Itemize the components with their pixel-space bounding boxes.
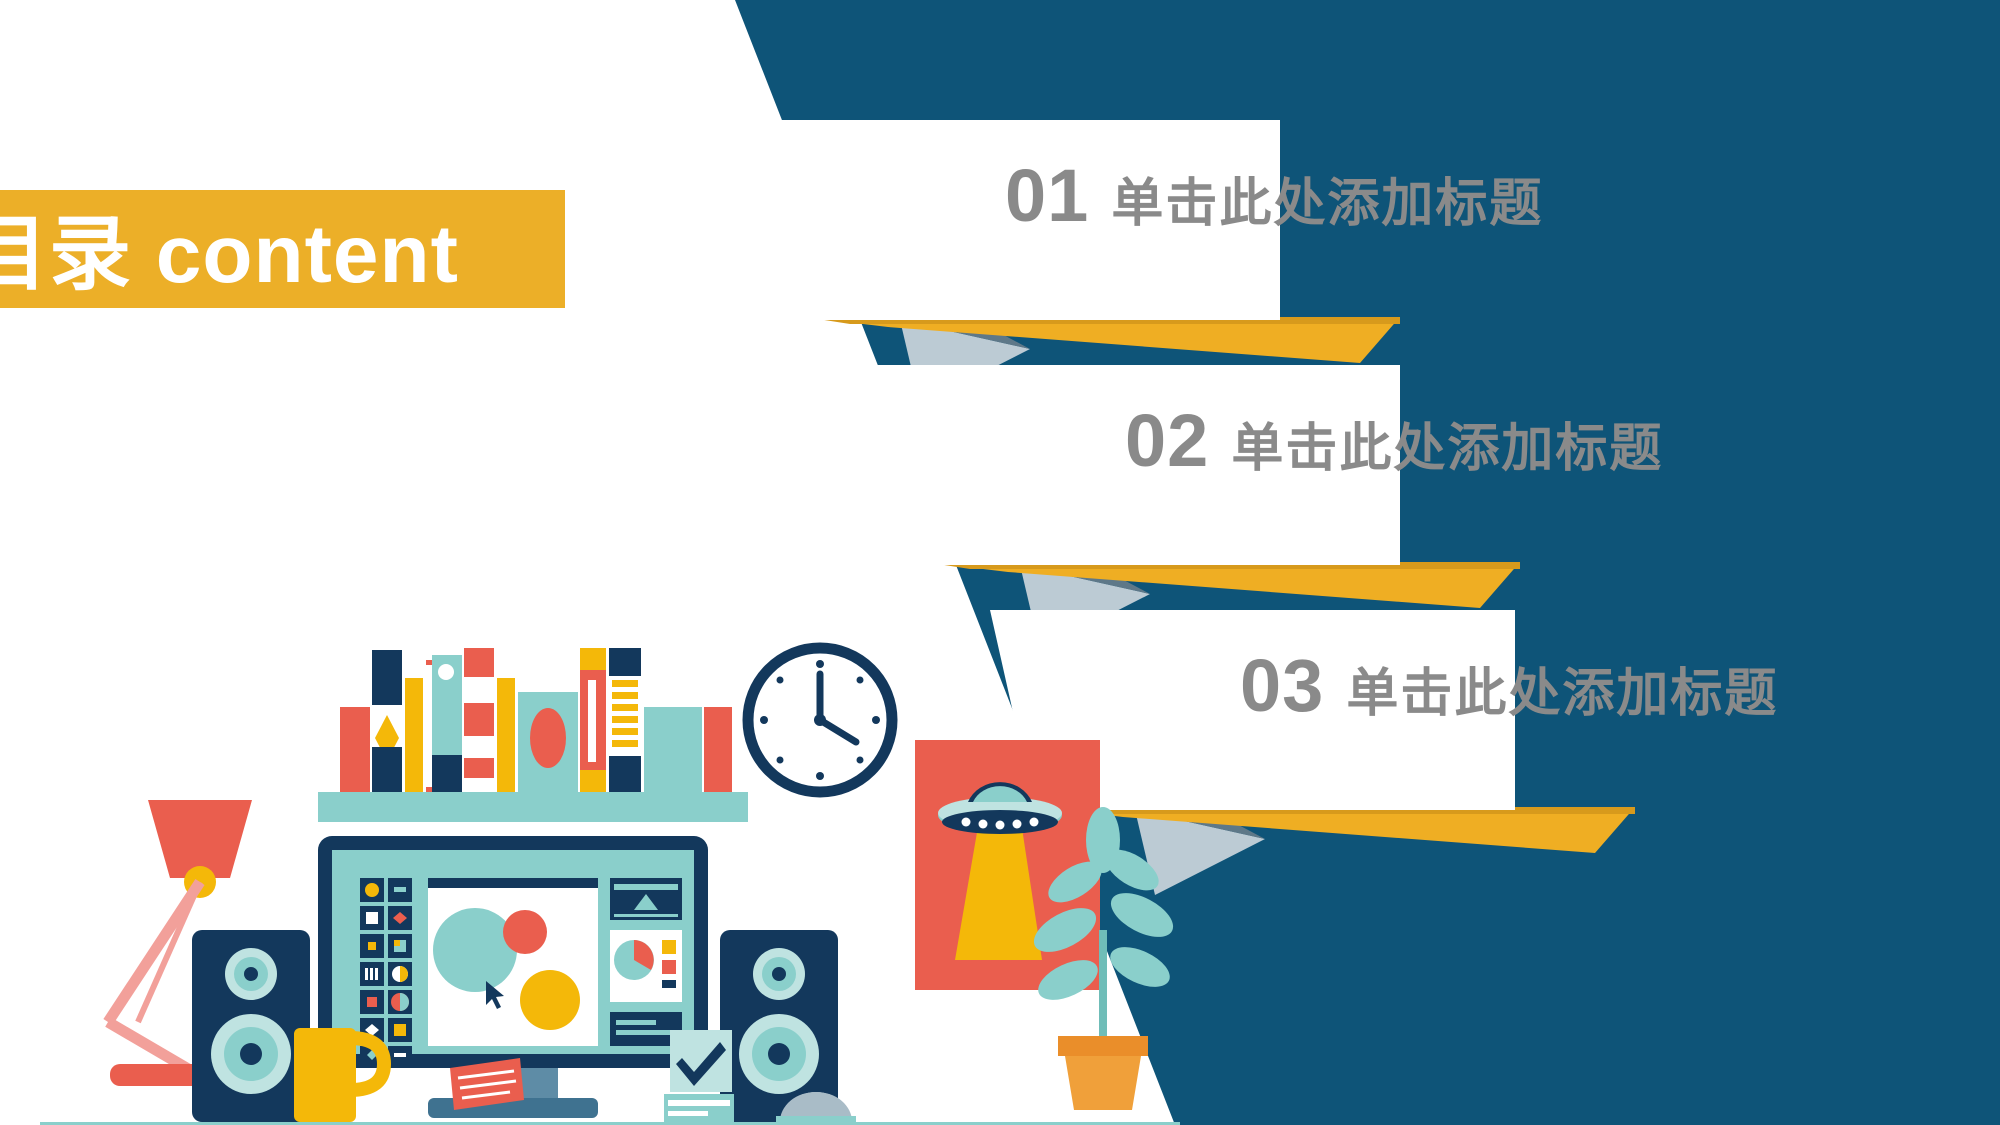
banner-number-01: 01 (1005, 153, 1089, 238)
flat-desk-workspace-illustration (20, 630, 1200, 1125)
banner-title-01: 单击此处添加标题 (1111, 161, 1543, 236)
banner-number-03: 03 (1240, 643, 1324, 728)
slide-canvas: 目录 content 01 单击此处添加标题 02 单击此处添加标 (0, 0, 2000, 1125)
speaker-left-icon (192, 930, 310, 1122)
page-title: 目录 content (0, 196, 566, 316)
wall-clock-icon (748, 648, 892, 792)
banner-label-03: 03 单击此处添加标题 (1240, 643, 1778, 728)
bookshelf-icon (318, 648, 748, 822)
banner-title-02: 单击此处添加标题 (1231, 406, 1663, 481)
banner-number-02: 02 (1125, 398, 1209, 483)
banner-title-03: 单击此处添加标题 (1346, 651, 1778, 726)
coffee-mug-icon (294, 1028, 384, 1122)
banner-label-02: 02 单击此处添加标题 (1125, 398, 1663, 483)
ufo-poster-icon (915, 740, 1100, 990)
checklist-note-icon (664, 1030, 734, 1122)
banner-label-01: 01 单击此处添加标题 (1005, 153, 1543, 238)
